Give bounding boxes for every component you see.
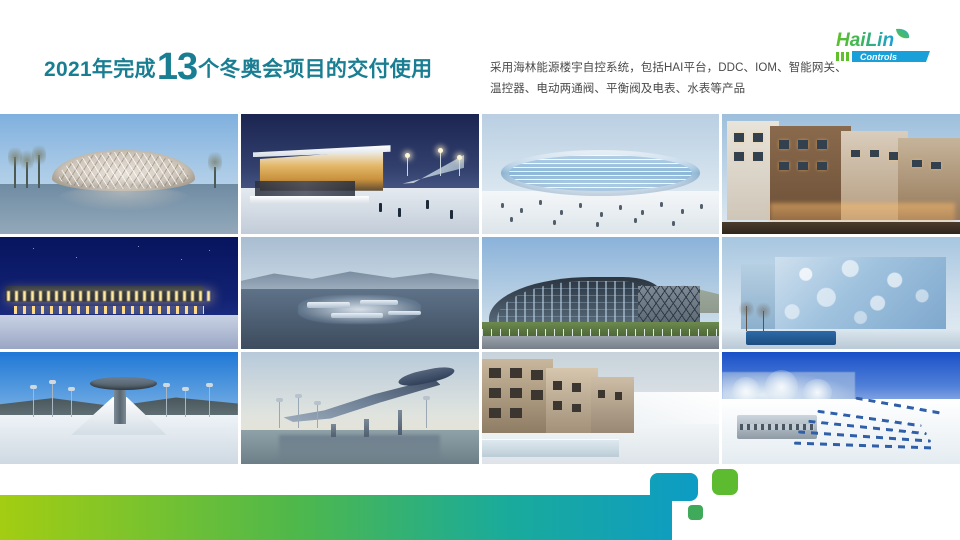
- photo-chalet-hotel: [722, 114, 960, 234]
- photo-water-cube: [722, 237, 960, 349]
- footer-gradient-bar: [0, 473, 698, 540]
- hailin-controls-logo: HaiLin Controls: [834, 26, 938, 66]
- photo-night-lit-venue: [0, 237, 238, 349]
- footer-accent-square-large: [712, 469, 738, 495]
- photo-birds-nest-stadium: [0, 114, 238, 234]
- title-number: 13: [156, 46, 198, 88]
- photo-valley-venue-aerial: [241, 237, 479, 349]
- project-photo-grid: [0, 114, 960, 462]
- photo-athletes-village: [482, 352, 720, 464]
- footer-accent-square-small: [688, 505, 703, 520]
- logo-brand-text: HaiLin: [836, 30, 894, 51]
- page-title: 2021年完成13个冬奥会项目的交付使用: [44, 48, 432, 86]
- logo-tagline-text: Controls: [860, 52, 897, 62]
- photo-big-air-shougang: [0, 352, 238, 464]
- photo-snowy-ski-area: [722, 352, 960, 464]
- leaf-icon: [896, 29, 909, 38]
- photo-ski-venue-dusk: [241, 114, 479, 234]
- title-prefix: 2021年完成: [44, 58, 156, 81]
- photo-snow-ruyi-ski-jump: [241, 352, 479, 464]
- photo-ice-ribbon-oval: [482, 114, 720, 234]
- title-suffix: 个冬奥会项目的交付使用: [198, 58, 432, 81]
- slide-footer-decoration: [0, 455, 960, 540]
- slide-header: 2021年完成13个冬奥会项目的交付使用 采用海林能源楼宇自控系统，包括HAI平…: [0, 0, 960, 112]
- description-text: 采用海林能源楼宇自控系统，包括HAI平台，DDC、IOM、智能网关、温控器、电动…: [490, 58, 850, 100]
- logo-stripes: [836, 52, 849, 61]
- photo-curved-glass-building: [482, 237, 720, 349]
